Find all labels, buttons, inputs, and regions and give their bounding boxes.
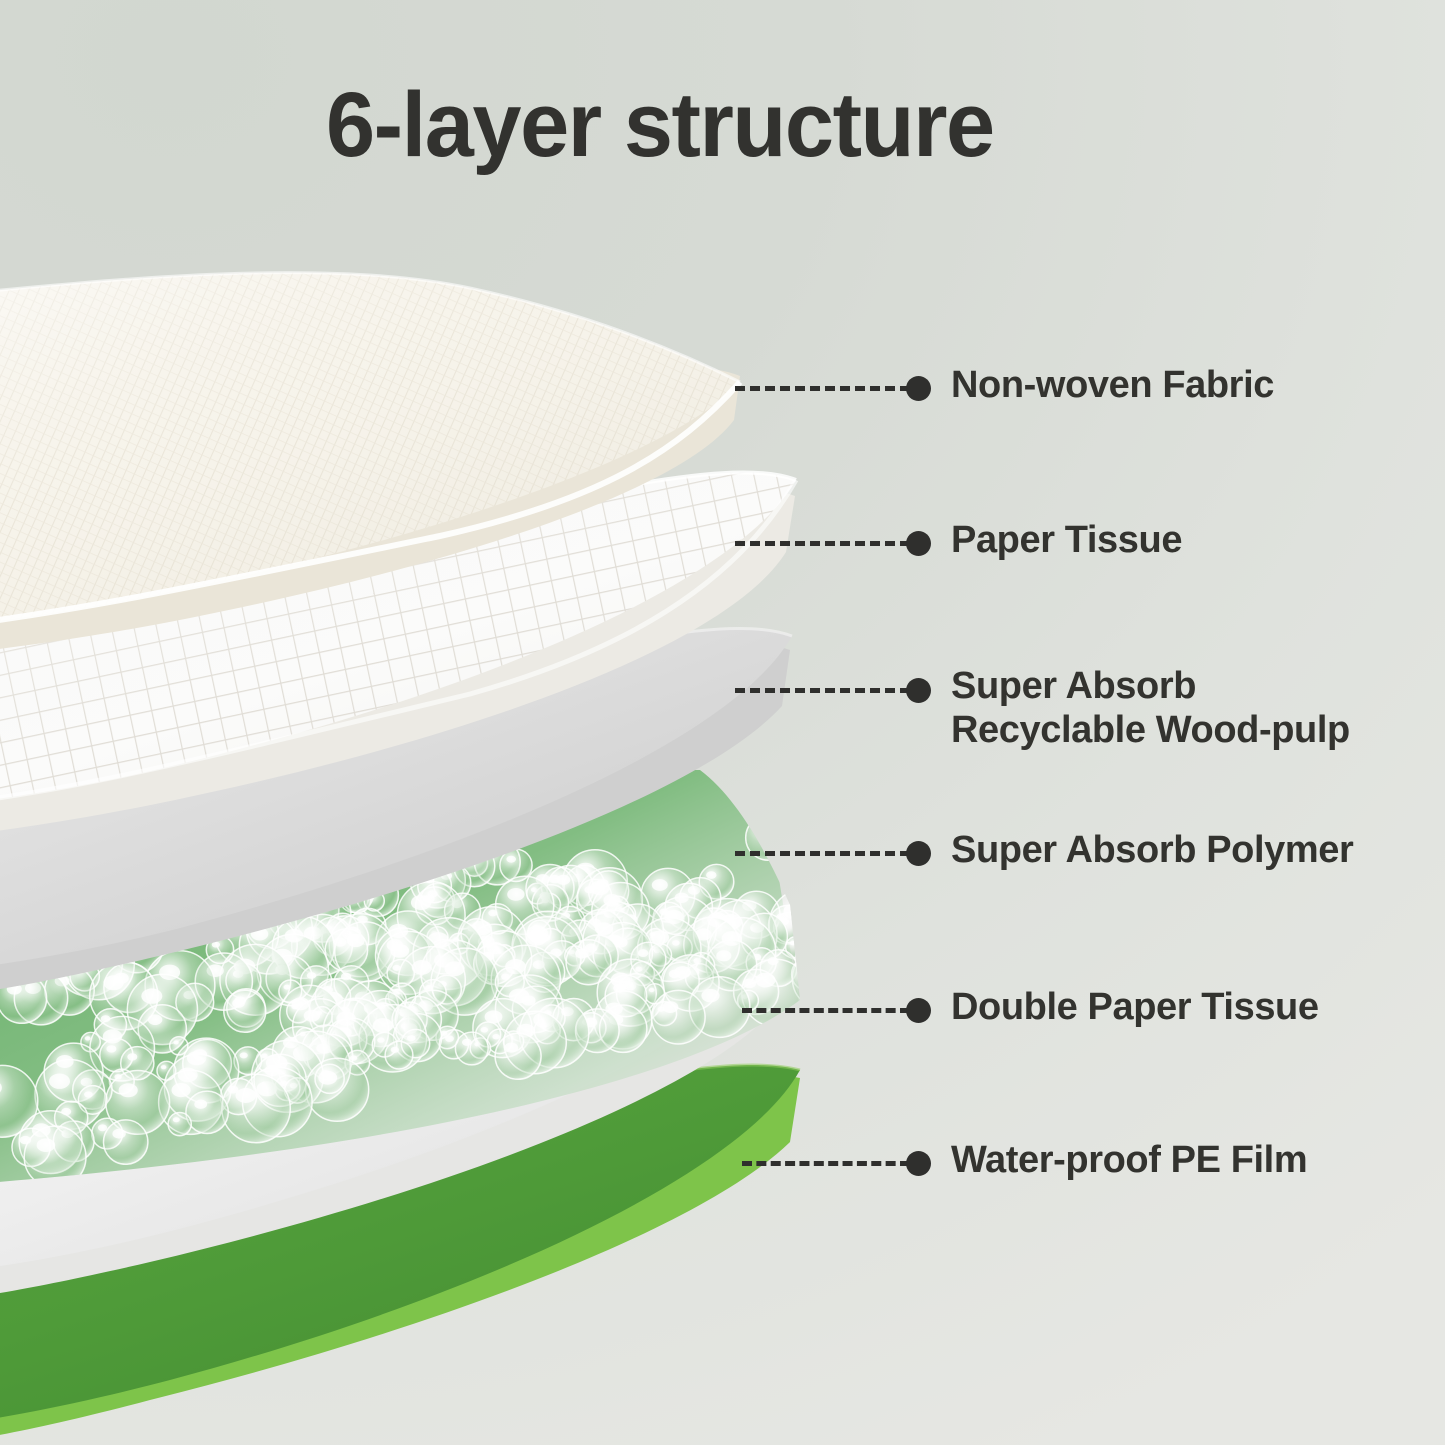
layer-label-water-proof-pe-film: Water-proof PE Film — [951, 1138, 1307, 1182]
leader-line-paper-tissue — [735, 541, 910, 546]
infographic-canvas: 6-layer structure — [0, 0, 1445, 1445]
leader-dot-super-absorb-polymer — [906, 841, 931, 866]
leader-dot-paper-tissue — [906, 531, 931, 556]
leader-dot-water-proof-pe-film — [906, 1151, 931, 1176]
leader-dot-non-woven-fabric — [906, 376, 931, 401]
leader-line-recyclable-wood-pulp — [735, 688, 910, 693]
layer-label-double-paper-tissue: Double Paper Tissue — [951, 985, 1319, 1029]
leader-line-double-paper-tissue — [742, 1008, 910, 1013]
leader-line-non-woven-fabric — [735, 386, 910, 391]
layer-label-non-woven-fabric: Non-woven Fabric — [951, 363, 1274, 407]
leader-line-super-absorb-polymer — [735, 851, 910, 856]
layer-label-super-absorb-polymer: Super Absorb Polymer — [951, 828, 1353, 872]
leader-dot-double-paper-tissue — [906, 998, 931, 1023]
leader-line-water-proof-pe-film — [742, 1161, 910, 1166]
leader-dot-recyclable-wood-pulp — [906, 678, 931, 703]
layer-label-recyclable-wood-pulp: Super Absorb Recyclable Wood-pulp — [951, 664, 1350, 752]
layer-label-paper-tissue: Paper Tissue — [951, 518, 1182, 562]
